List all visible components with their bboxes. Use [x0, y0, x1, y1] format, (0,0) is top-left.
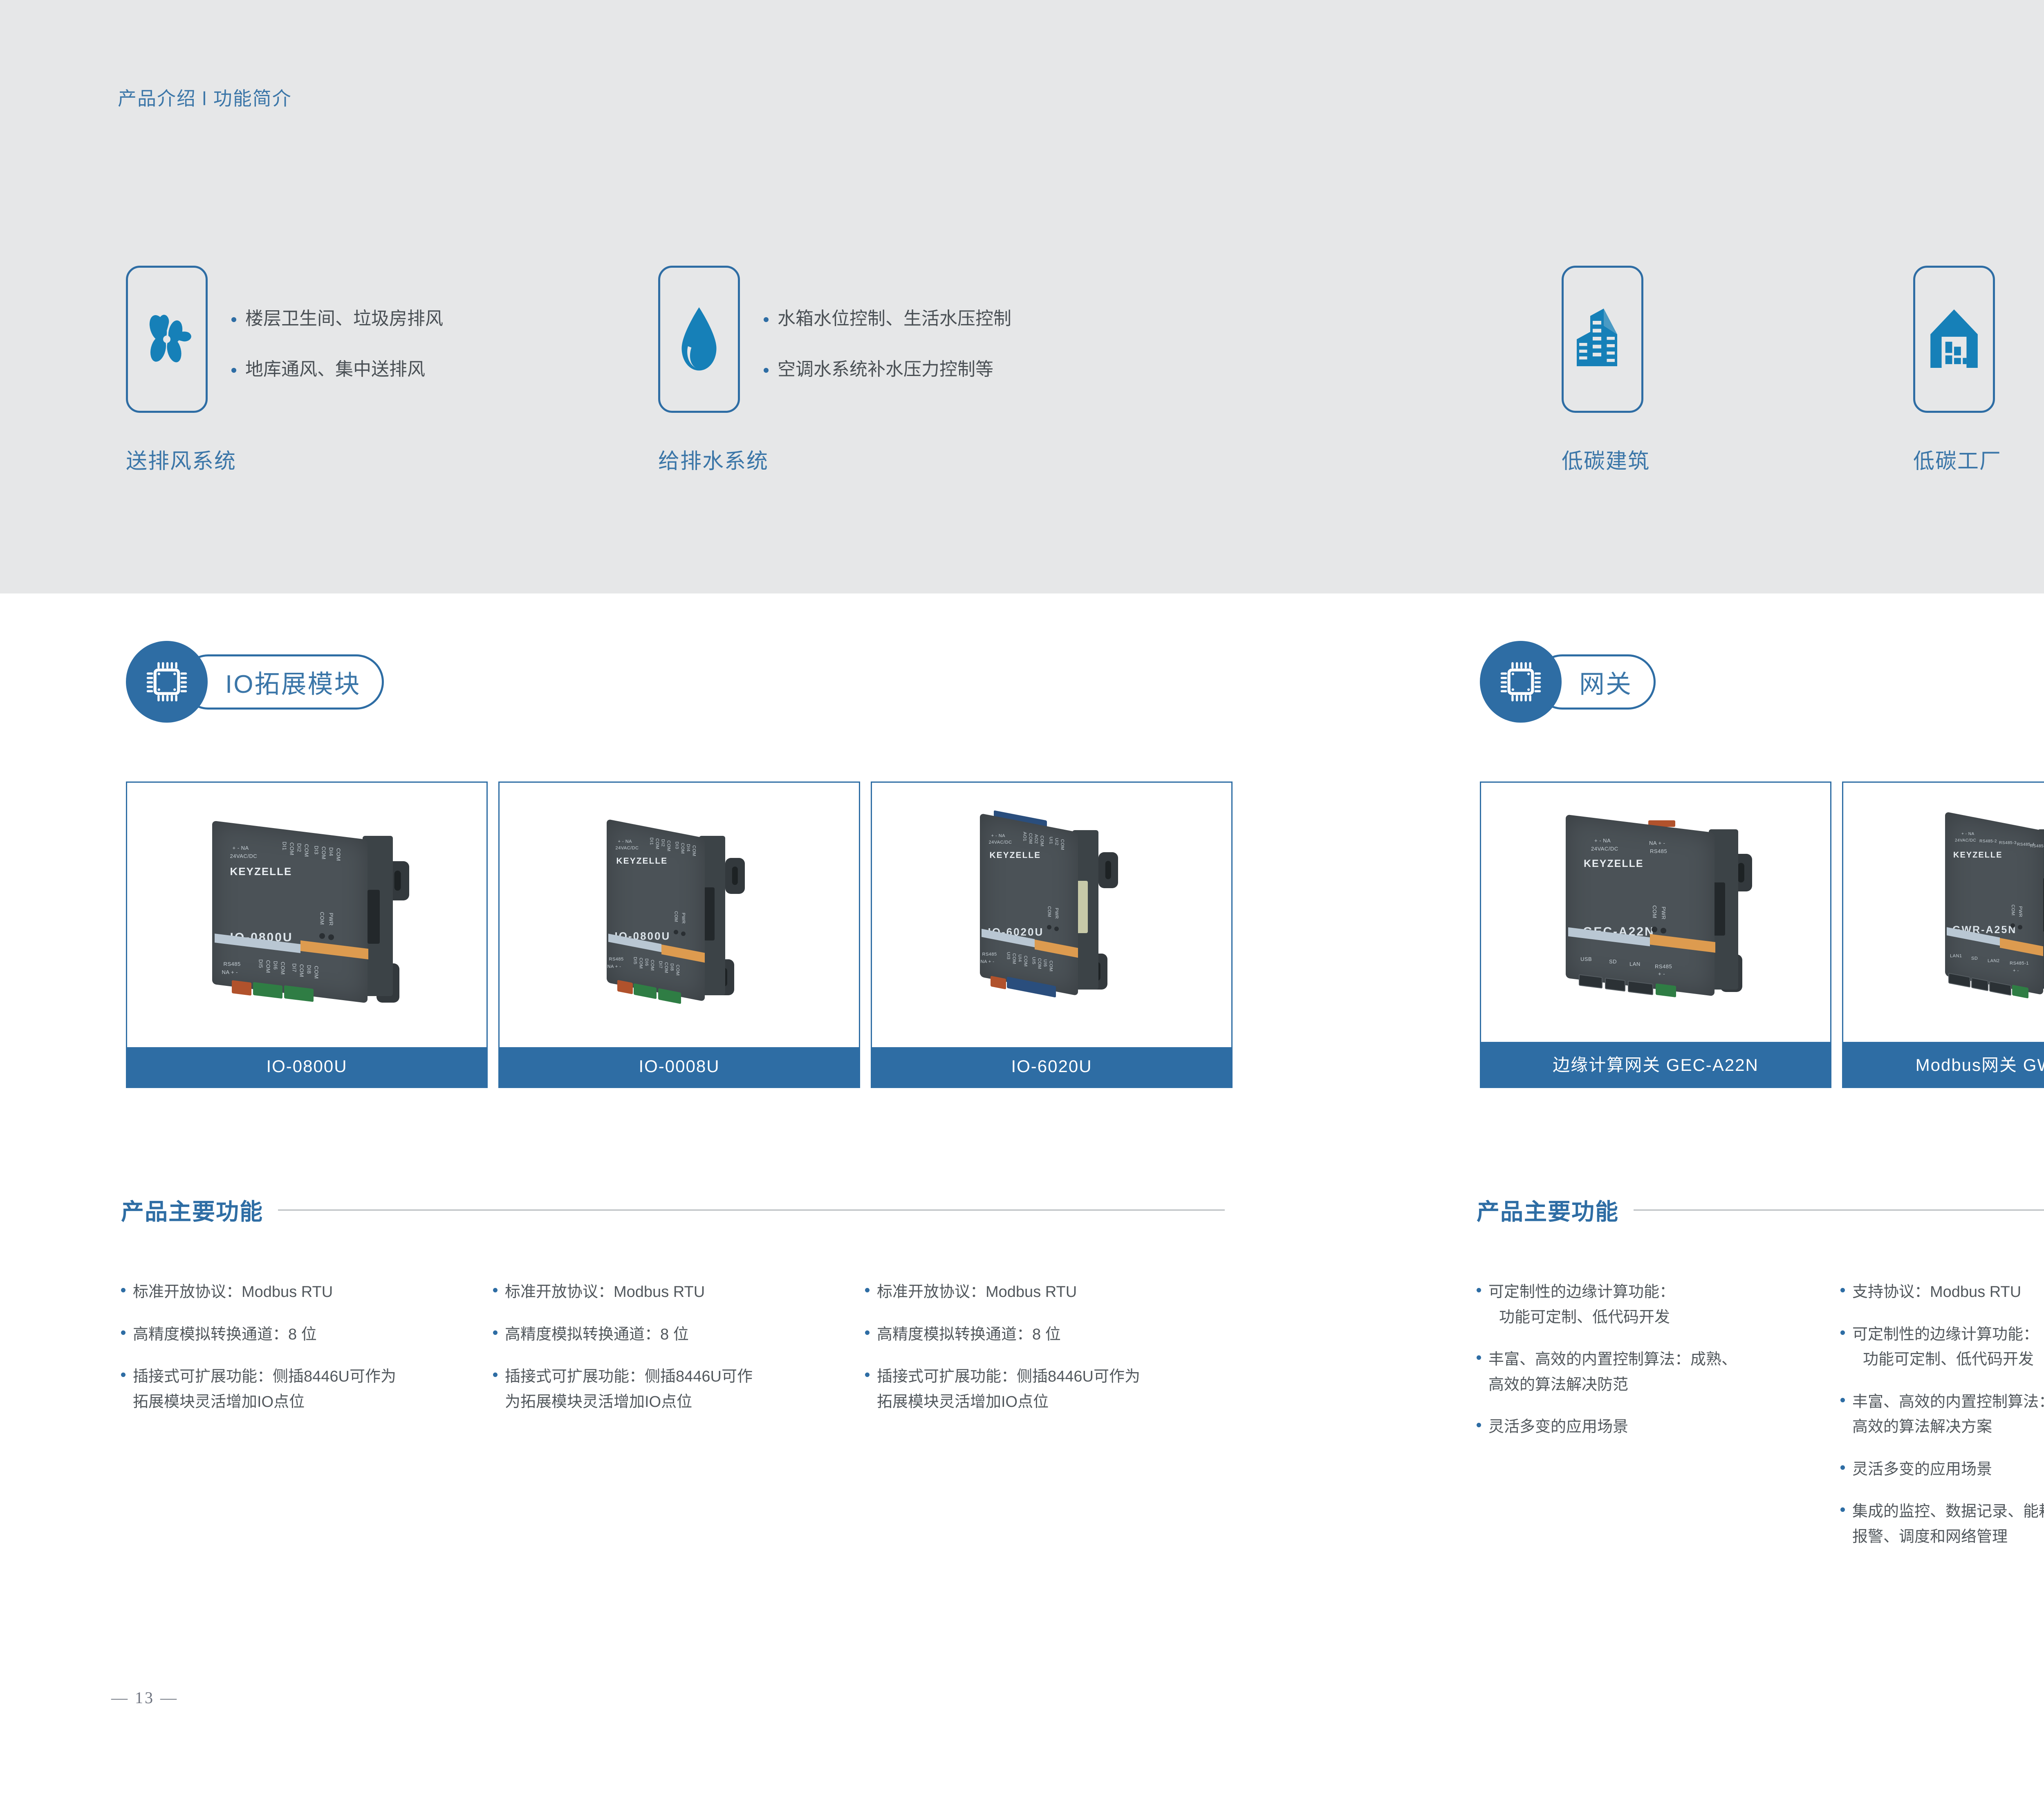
- list-item: 高精度模拟转换通道：8 位: [121, 1322, 493, 1348]
- list-item: 丰富、高效的内置控制算法：成熟、 高效的算法解决方案: [1840, 1390, 2044, 1440]
- pin-label: RS485: [982, 952, 997, 957]
- brochure-spread: 产品介绍 l 功能简介 产品介绍 l 功能简介: [0, 0, 2044, 1798]
- feature-text: 标准开放协议：Modbus RTU: [505, 1280, 705, 1305]
- scenario-caption: 低碳建筑: [1562, 444, 1650, 475]
- pin-label: RS485-2: [1979, 839, 1997, 844]
- product-card[interactable]: KEYZELLE + - NA 24VAC/DC NA + - RS485 GE…: [1480, 781, 1831, 1088]
- pin-label: DI2: [661, 839, 666, 853]
- pin-label: DI5: [258, 959, 264, 976]
- product-photo: KEYZELLE + - NA 24VAC/DC NA + - RS485 GE…: [1481, 783, 1830, 1042]
- pin-label: COM: [1037, 958, 1042, 974]
- feature-text: 灵活多变的应用场景: [1488, 1415, 1628, 1440]
- pin-label: UI6: [1043, 959, 1048, 973]
- features-title: 产品主要功能: [121, 1193, 263, 1227]
- status-led: [2010, 923, 2015, 928]
- bullet-dot-icon: [1840, 1465, 1845, 1470]
- pin-label: NA + -: [981, 959, 995, 964]
- pin-label: + - NA: [618, 839, 632, 844]
- pin-label: COM: [675, 965, 680, 980]
- pin-label: DI1: [649, 837, 654, 851]
- list-item: 标准开放协议：Modbus RTU: [493, 1280, 865, 1305]
- status-led: [1661, 928, 1666, 934]
- bullet-dot-icon: [764, 368, 769, 373]
- product-caption: Modbus网关 GWR-A25N: [1843, 1042, 2044, 1087]
- features-heading: 产品主要功能: [121, 1193, 1225, 1227]
- water-drop-icon-frame: [658, 266, 740, 413]
- pin-label: DI4: [686, 844, 691, 858]
- terminal-block: [1656, 983, 1676, 997]
- pin-label: NA + -: [1649, 840, 1665, 846]
- status-led: [1054, 927, 1059, 931]
- pin-label: COM: [1049, 961, 1053, 976]
- device-body: [1566, 815, 1715, 996]
- pin-label: SD: [1971, 956, 1978, 961]
- product-photo: KEYZELLE + - NA 24VAC/DC RS485-2 RS485-3…: [1843, 783, 2044, 1042]
- pin-label: RS485: [609, 957, 624, 962]
- list-item: 地库通风、集中送排风: [231, 360, 443, 379]
- pin-label: LAN1: [1950, 954, 1962, 958]
- bullet-dot-icon: [865, 1288, 870, 1292]
- bullet-dot-icon: [121, 1288, 126, 1292]
- pin-label: DI7: [658, 961, 663, 975]
- product-card[interactable]: KEYZELLE + - NA 24VAC/DC DI1 COM DI2 COM…: [126, 781, 488, 1088]
- pin-label: + - NA: [1594, 837, 1611, 844]
- pin-label: 24VAC/DC: [230, 853, 258, 859]
- feature-text: 可定制性的边缘计算功能： 功能可定制、低代码开发: [1852, 1322, 2039, 1373]
- features-column: 标准开放协议：Modbus RTU 高精度模拟转换通道：8 位 插接式可扩展功能…: [121, 1280, 493, 1432]
- feature-text: 高精度模拟转换通道：8 位: [505, 1322, 689, 1348]
- features-title: 产品主要功能: [1477, 1193, 1619, 1227]
- bullet-dot-icon: [493, 1373, 498, 1377]
- features-column: 标准开放协议：Modbus RTU 高精度模拟转换通道：8 位 插接式可扩展功能…: [493, 1280, 865, 1432]
- pin-label: + -: [2013, 968, 2019, 973]
- pin-label: DI4: [328, 847, 334, 864]
- pin-label: DI6: [273, 961, 279, 978]
- pin-label: COM: [1028, 833, 1033, 849]
- product-card[interactable]: KEYZELLE + - NA 24VAC/DC DI1 COM DI2 COM…: [498, 781, 860, 1088]
- list-item: 可定制性的边缘计算功能： 功能可定制、低代码开发: [1477, 1280, 1840, 1330]
- feature-text: 支持协议：Modbus RTU: [1852, 1280, 2021, 1305]
- pin-label: + -: [1658, 971, 1665, 977]
- expansion-slot: [704, 887, 715, 940]
- pin-label: DI1: [282, 842, 288, 859]
- pin-label: AO1: [1022, 832, 1027, 846]
- pin-label: DI6: [644, 958, 649, 972]
- led-label: COM: [674, 911, 679, 927]
- pin-label: DI7: [291, 963, 298, 981]
- pin-label: COM: [1040, 835, 1044, 851]
- product-photo: KEYZELLE + - NA 24VAC/DC DI1 COM DI2 COM…: [500, 783, 859, 1047]
- pin-label: UI4: [1018, 954, 1022, 968]
- water-bullets: 水箱水位控制、生活水压控制 空调水系统补水压力控制等: [764, 266, 1011, 380]
- pin-label: UI5: [1031, 957, 1036, 971]
- scenario-low-carbon-factory: 低碳工厂: [1913, 266, 2001, 475]
- scenario-caption: 低碳工厂: [1913, 444, 2001, 475]
- bullet-dot-icon: [1840, 1330, 1845, 1335]
- pin-label: RS485-5: [2030, 844, 2044, 849]
- water-drop-icon: [672, 305, 726, 374]
- feature-text: 可定制性的边缘计算功能： 功能可定制、低代码开发: [1488, 1280, 1675, 1330]
- product-card[interactable]: KEYZELLE + - NA 24VAC/DC RS485-2 RS485-3…: [1842, 781, 2044, 1088]
- led-label: COM: [1652, 905, 1658, 924]
- product-photo: KEYZELLE + - NA 24VAC/DC DI1 COM DI2 COM…: [127, 783, 486, 1047]
- bullet-dot-icon: [1840, 1288, 1845, 1292]
- pin-label: + - NA: [991, 833, 1005, 838]
- scenario-caption: 给排水系统: [658, 444, 769, 475]
- pin-label: UI3: [1006, 952, 1011, 966]
- feature-text: 插接式可扩展功能：侧插8446U可作 为拓展模块灵活增加IO点位: [505, 1364, 753, 1415]
- sd-slot: [1605, 978, 1625, 992]
- pin-label: UI1: [1049, 837, 1053, 851]
- pin-label: 24VAC/DC: [1955, 838, 1976, 843]
- list-item: 水箱水位控制、生活水压控制: [764, 309, 1011, 329]
- pin-label: + - NA: [1961, 832, 1975, 836]
- brand-label: KEYZELLE: [1953, 851, 2002, 860]
- product-photo: KEYZELLE + - NA 24VAC/DC AO1 COM AO2 COM…: [872, 783, 1231, 1047]
- chip-icon: [1480, 641, 1562, 723]
- bullet-dot-icon: [493, 1288, 498, 1292]
- bullet-dot-icon: [1477, 1288, 1481, 1292]
- pin-label: COM: [289, 842, 295, 861]
- pin-label: SD: [1609, 958, 1617, 965]
- pin-label: RS485: [1655, 963, 1672, 970]
- pin-label: COM: [265, 960, 271, 979]
- heading-rule: [1634, 1209, 2044, 1211]
- list-item: 集成的监控、数据记录、能耗计量、 报警、调度和网络管理: [1840, 1499, 2044, 1549]
- pin-label: LAN: [1629, 961, 1641, 967]
- bullet-dot-icon: [121, 1373, 126, 1377]
- pin-label: COM: [321, 846, 327, 865]
- features-column: 标准开放协议：Modbus RTU 高精度模拟转换通道：8 位 插接式可扩展功能…: [865, 1280, 1225, 1432]
- feature-text: 插接式可扩展功能：侧插8446U可作为 拓展模块灵活增加IO点位: [877, 1364, 1140, 1415]
- pin-label: COM: [639, 958, 643, 973]
- list-item: 标准开放协议：Modbus RTU: [121, 1280, 493, 1305]
- features-columns: 标准开放协议：Modbus RTU 高精度模拟转换通道：8 位 插接式可扩展功能…: [121, 1280, 1225, 1432]
- brand-label: KEYZELLE: [616, 856, 668, 866]
- pin-label: COM: [666, 840, 671, 856]
- bullet-dot-icon: [1477, 1423, 1481, 1427]
- list-item: 支持协议：Modbus RTU: [1840, 1280, 2044, 1305]
- fan-icon-frame: [126, 266, 208, 413]
- mount-ear: [1098, 852, 1118, 888]
- list-item: 灵活多变的应用场景: [1477, 1415, 1840, 1440]
- pin-label: USB: [1580, 956, 1592, 962]
- pin-label: COM: [655, 838, 660, 854]
- pin-label: DI8: [670, 963, 675, 977]
- section-badge-gateway[interactable]: 网关: [1480, 641, 1656, 723]
- status-led: [674, 930, 678, 934]
- left-features: 产品主要功能 标准开放协议：Modbus RTU 高精度模拟转换通道：8 位: [121, 1193, 1225, 1432]
- bullet-text: 地库通风、集中送排风: [245, 360, 425, 379]
- bullet-text: 楼层卫生间、垃圾房排风: [245, 309, 443, 329]
- gateway-card-row: KEYZELLE + - NA 24VAC/DC NA + - RS485 GE…: [1480, 781, 2044, 1088]
- status-led: [1652, 927, 1657, 932]
- factory-icon-frame: [1913, 266, 1995, 413]
- list-item: 标准开放协议：Modbus RTU: [865, 1280, 1225, 1305]
- pin-label: COM: [280, 962, 286, 981]
- product-caption: IO-0008U: [500, 1047, 859, 1087]
- scenario-water-supply: 水箱水位控制、生活水压控制 空调水系统补水压力控制等 给排水系统: [658, 266, 1011, 475]
- pin-label: RS485: [224, 961, 241, 967]
- bullet-dot-icon: [865, 1330, 870, 1335]
- product-caption: 边缘计算网关 GEC-A22N: [1481, 1042, 1830, 1087]
- status-led: [328, 934, 334, 940]
- scenario-ventilation: 楼层卫生间、垃圾房排风 地库通风、集中送排风 送排风系统: [126, 266, 443, 475]
- section-badge-io-modules[interactable]: IO拓展模块: [126, 641, 384, 723]
- product-card[interactable]: KEYZELLE + - NA 24VAC/DC AO1 COM AO2 COM…: [871, 781, 1233, 1088]
- pin-label: DI3: [314, 846, 320, 863]
- pin-label: COM: [664, 962, 669, 978]
- pin-label: 24VAC/DC: [989, 840, 1012, 845]
- feature-text: 丰富、高效的内置控制算法：成熟、 高效的算法解决方案: [1852, 1390, 2044, 1440]
- led-label: COM: [319, 912, 325, 931]
- fan-icon: [136, 309, 197, 370]
- bullet-dot-icon: [231, 368, 236, 373]
- feature-text: 标准开放协议：Modbus RTU: [133, 1280, 333, 1305]
- led-label: COM: [2010, 905, 2015, 921]
- feature-text: 高精度模拟转换通道：8 位: [877, 1322, 1061, 1348]
- list-item: 可定制性的边缘计算功能： 功能可定制、低代码开发: [1840, 1322, 2044, 1373]
- pin-label: RS485-3: [1999, 841, 2017, 845]
- list-item: 高精度模拟转换通道：8 位: [493, 1322, 865, 1348]
- chip-icon: [126, 641, 208, 723]
- product-caption: IO-6020U: [872, 1047, 1231, 1087]
- status-led: [319, 933, 325, 939]
- bullet-dot-icon: [231, 317, 236, 322]
- pin-label: AO2: [1034, 834, 1039, 848]
- pin-label: 24VAC/DC: [616, 846, 639, 851]
- led-label: PWR: [2018, 906, 2023, 921]
- product-caption: IO-0800U: [127, 1047, 486, 1087]
- status-led: [1047, 925, 1051, 929]
- terminal-block: [232, 980, 251, 996]
- status-led: [2018, 925, 2022, 929]
- pin-label: NA + -: [222, 969, 238, 975]
- running-head-left: 产品介绍 l 功能简介: [118, 84, 292, 111]
- feature-text: 插接式可扩展功能：侧插8446U可作为 拓展模块灵活增加IO点位: [133, 1364, 396, 1415]
- pin-label: COM: [299, 964, 305, 983]
- led-label: PWR: [681, 913, 686, 927]
- list-item: 插接式可扩展功能：侧插8446U可作为 拓展模块灵活增加IO点位: [121, 1364, 493, 1415]
- feature-text: 高精度模拟转换通道：8 位: [133, 1322, 317, 1348]
- pin-label: COM: [650, 960, 655, 975]
- bullet-dot-icon: [1840, 1507, 1845, 1512]
- pin-label: DI5: [633, 957, 638, 971]
- feature-text: 灵活多变的应用场景: [1852, 1457, 1992, 1482]
- led-label: PWR: [1661, 907, 1667, 924]
- bullet-dot-icon: [764, 317, 769, 322]
- expansion-slot: [368, 890, 380, 944]
- led-label: PWR: [328, 913, 334, 930]
- list-item: 楼层卫生间、垃圾房排风: [231, 309, 443, 329]
- pin-label: LAN2: [1988, 958, 2000, 963]
- led-label: COM: [1047, 906, 1052, 923]
- bullet-dot-icon: [1840, 1398, 1845, 1402]
- expansion-slot: [1713, 882, 1725, 936]
- list-item: 丰富、高效的内置控制算法：成熟、 高效的算法解决防范: [1477, 1347, 1840, 1397]
- pin-label: RS485-1: [2010, 961, 2029, 966]
- feature-text: 集成的监控、数据记录、能耗计量、 报警、调度和网络管理: [1852, 1499, 2044, 1549]
- factory-icon: [1925, 307, 1983, 372]
- pin-label: COM: [692, 845, 697, 861]
- list-item: 灵活多变的应用场景: [1840, 1457, 2044, 1482]
- pin-label: 24VAC/DC: [1591, 846, 1618, 852]
- section-badge-label: IO拓展模块: [181, 654, 384, 710]
- bullet-dot-icon: [1477, 1355, 1481, 1360]
- pin-label: UI2: [1054, 838, 1059, 852]
- features-heading: 产品主要功能: [1477, 1193, 2044, 1227]
- office-building-icon: [1572, 307, 1633, 372]
- pin-label: RS485: [1650, 848, 1667, 854]
- pin-label: DI8: [306, 965, 312, 982]
- status-led: [681, 931, 686, 936]
- pin-label: COM: [336, 848, 342, 867]
- bullet-text: 空调水系统补水压力控制等: [778, 360, 993, 379]
- office-building-icon-frame: [1562, 266, 1643, 413]
- bullet-dot-icon: [493, 1330, 498, 1335]
- pin-label: COM: [1060, 839, 1065, 855]
- feature-text: 丰富、高效的内置控制算法：成熟、 高效的算法解决防范: [1488, 1347, 1737, 1397]
- led-label: PWR: [1054, 908, 1059, 923]
- brand-label: KEYZELLE: [990, 851, 1041, 860]
- pin-label: COM: [304, 844, 310, 863]
- list-item: 插接式可扩展功能：侧插8446U可作为 拓展模块灵活增加IO点位: [865, 1364, 1225, 1415]
- right-features: 产品主要功能 可定制性的边缘计算功能： 功能可定制、低代码开发 丰富、高效的内置…: [1477, 1193, 2044, 1567]
- pin-label: NA + -: [607, 964, 621, 969]
- scenario-caption: 送排风系统: [126, 444, 236, 475]
- ventilation-bullets: 楼层卫生间、垃圾房排风 地库通风、集中送排风: [231, 266, 443, 380]
- heading-rule: [278, 1209, 1225, 1211]
- brand-label: KEYZELLE: [1584, 858, 1644, 870]
- bullet-dot-icon: [121, 1330, 126, 1335]
- mount-ear: [725, 858, 745, 894]
- pin-label: COM: [1012, 953, 1017, 969]
- scenario-low-carbon-building: 低碳建筑: [1562, 266, 1650, 475]
- list-item: 空调水系统补水压力控制等: [764, 360, 1011, 379]
- pin-label: COM: [1023, 956, 1028, 971]
- pin-label: + - NA: [233, 845, 249, 851]
- pin-label: DI3: [675, 842, 679, 855]
- pin-label: COM: [680, 843, 685, 858]
- brand-label: KEYZELLE: [230, 865, 292, 878]
- usb-port: [1579, 974, 1602, 988]
- pin-label: DI2: [296, 843, 303, 860]
- page-number-left: — 13 —: [111, 1688, 178, 1707]
- bullet-dot-icon: [865, 1373, 870, 1377]
- features-columns: 可定制性的边缘计算功能： 功能可定制、低代码开发 丰富、高效的内置控制算法：成熟…: [1477, 1280, 2044, 1567]
- io-module-card-row: KEYZELLE + - NA 24VAC/DC DI1 COM DI2 COM…: [126, 781, 1233, 1088]
- feature-text: 标准开放协议：Modbus RTU: [877, 1280, 1077, 1305]
- pin-label: COM: [314, 966, 320, 985]
- features-column: 可定制性的边缘计算功能： 功能可定制、低代码开发 丰富、高效的内置控制算法：成熟…: [1477, 1280, 1840, 1567]
- features-column: 支持协议：Modbus RTU 可定制性的边缘计算功能： 功能可定制、低代码开发…: [1840, 1280, 2044, 1567]
- bullet-text: 水箱水位控制、生活水压控制: [778, 309, 1011, 329]
- list-item: 插接式可扩展功能：侧插8446U可作 为拓展模块灵活增加IO点位: [493, 1364, 865, 1415]
- list-item: 高精度模拟转换通道：8 位: [865, 1322, 1225, 1348]
